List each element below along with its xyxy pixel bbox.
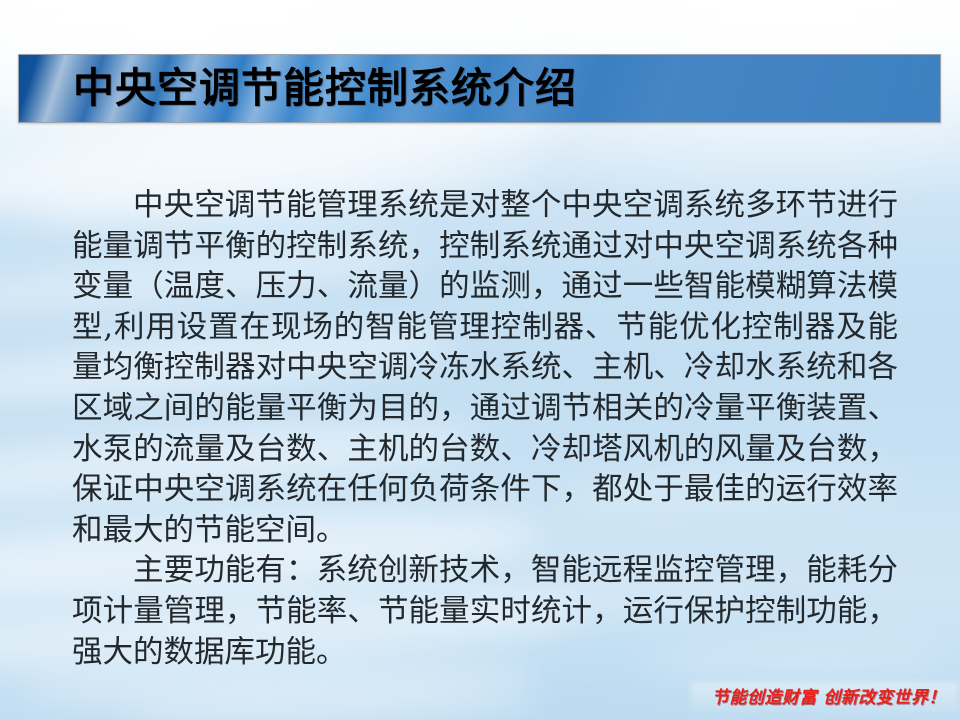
slide-title-bar: 中央空调节能控制系统介绍 [18, 54, 941, 123]
body-paragraph-2: 主要功能有：系统创新技术，智能远程监控管理，能耗分项计量管理，节能率、节能量实时… [72, 551, 898, 673]
slide-title: 中央空调节能控制系统介绍 [73, 68, 577, 109]
footer-slogan: 节能创造财富 创新改变世界！ [712, 688, 946, 708]
body-paragraph-1: 中央空调节能管理系统是对整个中央空调系统多环节进行能量调节平衡的控制系统，控制系… [72, 186, 898, 551]
presentation-slide: 中央空调节能控制系统介绍 中央空调节能管理系统是对整个中央空调系统多环节进行能量… [0, 0, 960, 720]
slide-body-text: 中央空调节能管理系统是对整个中央空调系统多环节进行能量调节平衡的控制系统，控制系… [72, 186, 898, 673]
